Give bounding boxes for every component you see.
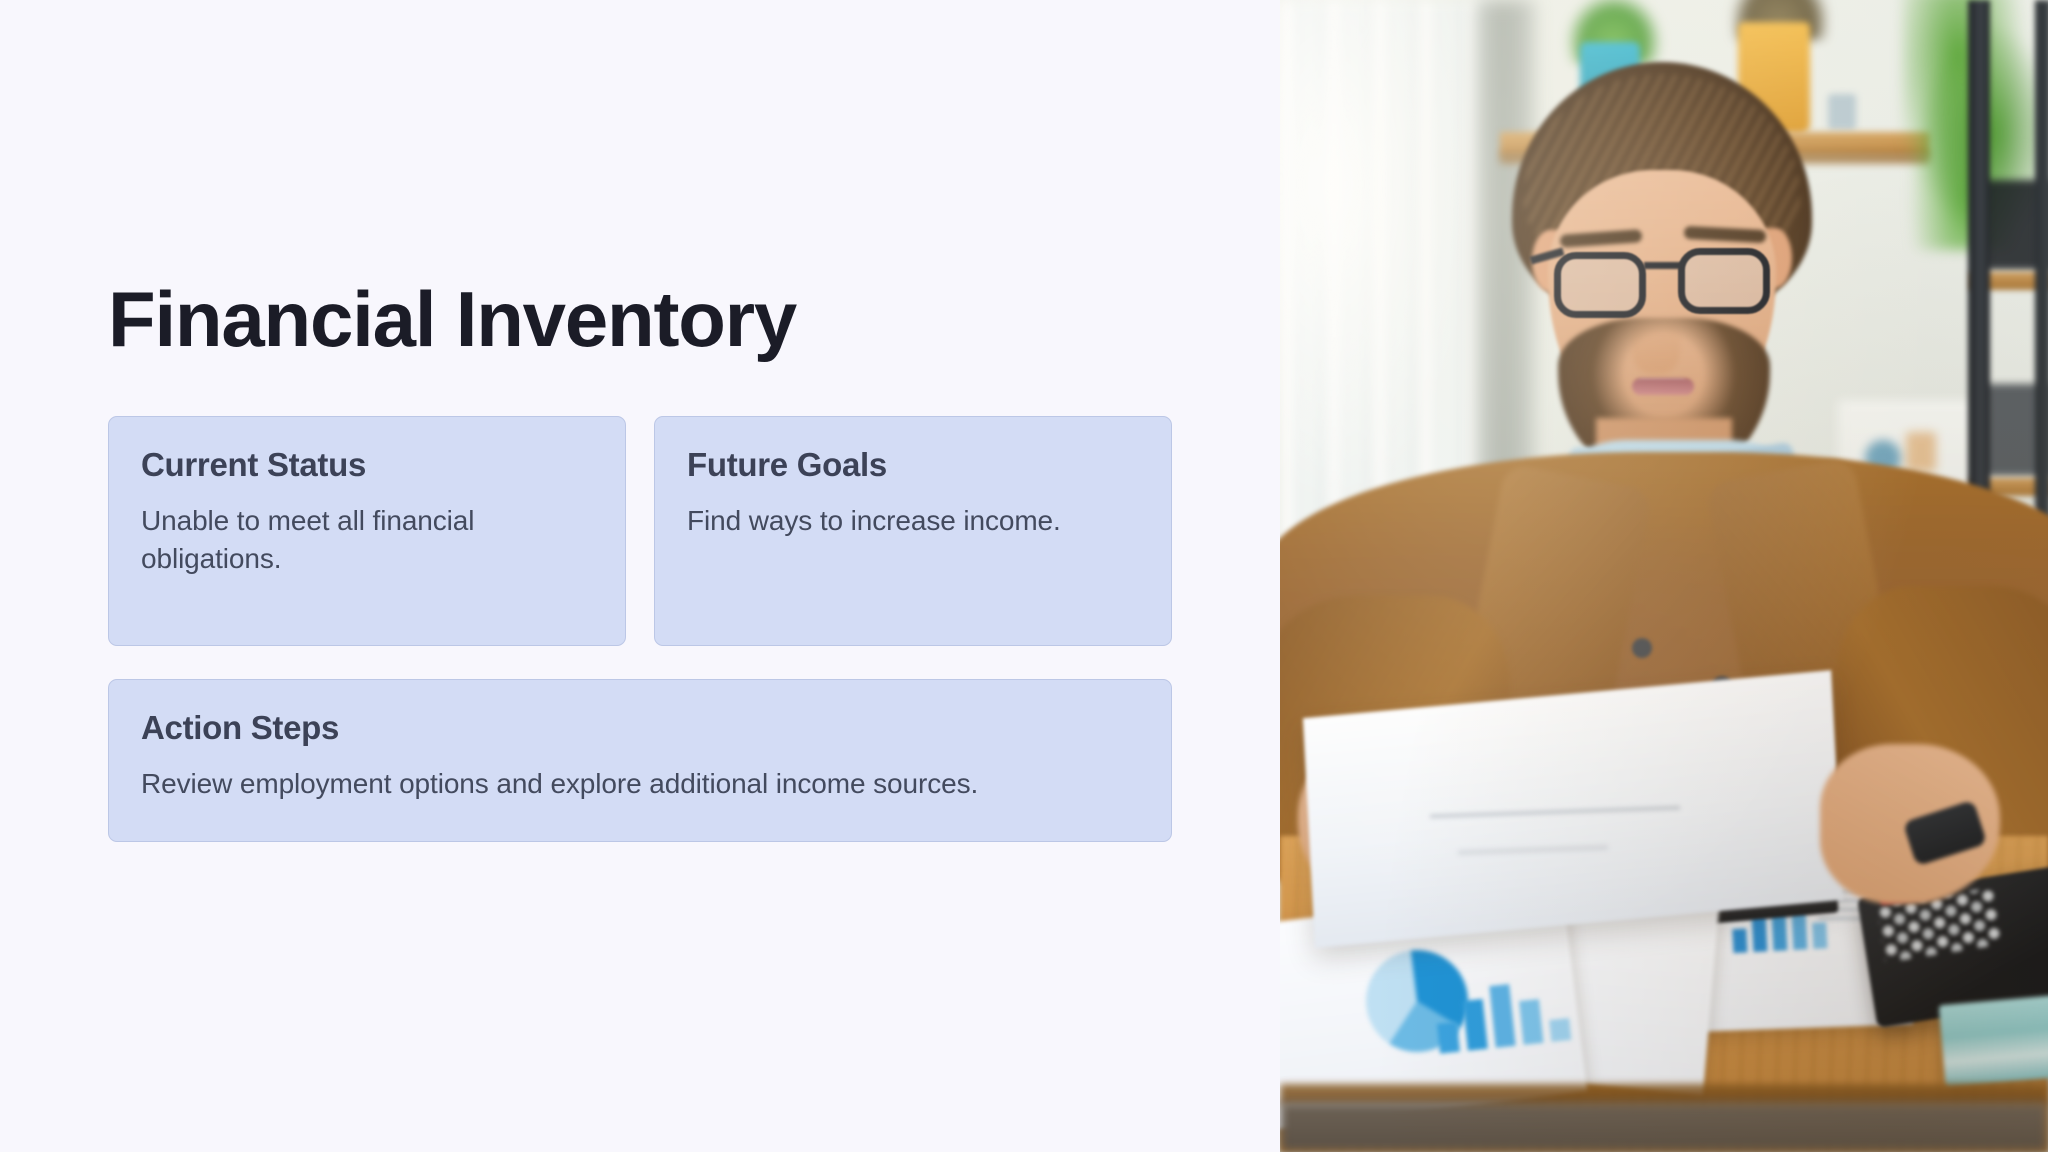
floor [1280, 1102, 2048, 1152]
window-light-glow [1280, 0, 1480, 520]
card-current-status[interactable]: Current Status Unable to meet all financ… [108, 416, 626, 646]
eyeglass-bridge [1644, 262, 1682, 269]
slide-root: Financial Inventory Current Status Unabl… [0, 0, 2048, 1152]
card-action-steps[interactable]: Action Steps Review employment options a… [108, 679, 1172, 842]
card-body-future-goals: Find ways to increase income. [687, 502, 1139, 540]
jacket-button-upper [1632, 638, 1652, 658]
card-heading-current-status: Current Status [141, 447, 593, 483]
content-panel: Financial Inventory Current Status Unabl… [0, 0, 1280, 1152]
card-future-goals[interactable]: Future Goals Find ways to increase incom… [654, 416, 1172, 646]
card-heading-future-goals: Future Goals [687, 447, 1139, 483]
shelf-ornament [1828, 94, 1856, 130]
teal-note-stack [1939, 995, 2048, 1087]
photo-panel [1280, 0, 2048, 1152]
eyeglass-lens-right [1678, 248, 1770, 314]
page-title: Financial Inventory [108, 280, 1172, 358]
content-inner: Financial Inventory Current Status Unabl… [108, 280, 1172, 842]
card-body-action-steps: Review employment options and explore ad… [141, 765, 1139, 803]
mouth [1632, 378, 1694, 395]
card-row-top: Current Status Unable to meet all financ… [108, 416, 1172, 646]
card-heading-action-steps: Action Steps [141, 710, 1139, 746]
eyeglass-lens-left [1554, 252, 1646, 318]
card-body-current-status: Unable to meet all financial obligations… [141, 502, 593, 578]
picture-detail-orange [1906, 432, 1936, 472]
